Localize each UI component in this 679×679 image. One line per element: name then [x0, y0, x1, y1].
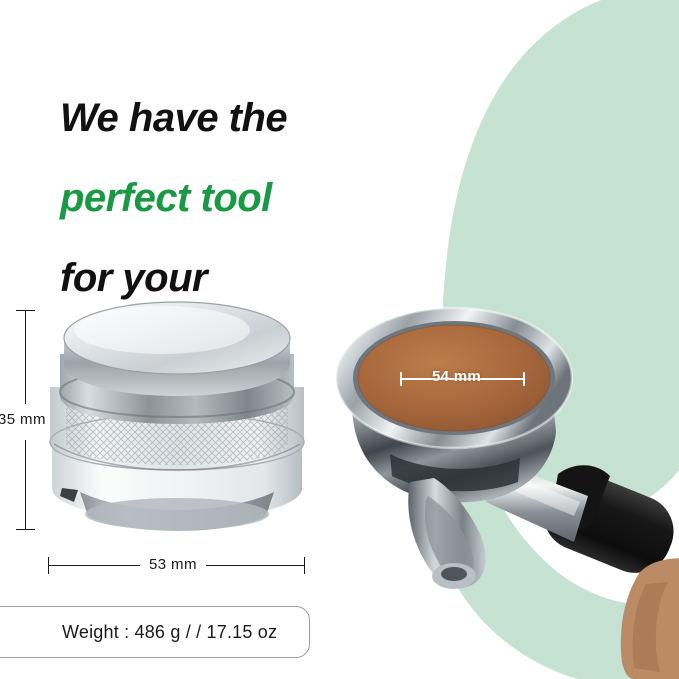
- distributor-top-disc-highlight: [74, 306, 250, 354]
- distributor-base-ellipse: [85, 498, 269, 530]
- coffee-distributor-image: [44, 292, 310, 532]
- portafilter-image: [330, 286, 679, 679]
- height-dimension-label: 35 mm: [0, 411, 46, 428]
- product-infographic: We have the perfect tool for your espres…: [0, 0, 679, 679]
- width-dimension-label: 53 mm: [140, 556, 206, 573]
- headline-line-2: perfect tool: [60, 178, 390, 218]
- basket-dimension-label: 54 mm: [432, 368, 481, 385]
- weight-label: Weight : 486 g / / 17.15 oz: [62, 622, 277, 643]
- headline-line-1: We have the: [60, 98, 390, 138]
